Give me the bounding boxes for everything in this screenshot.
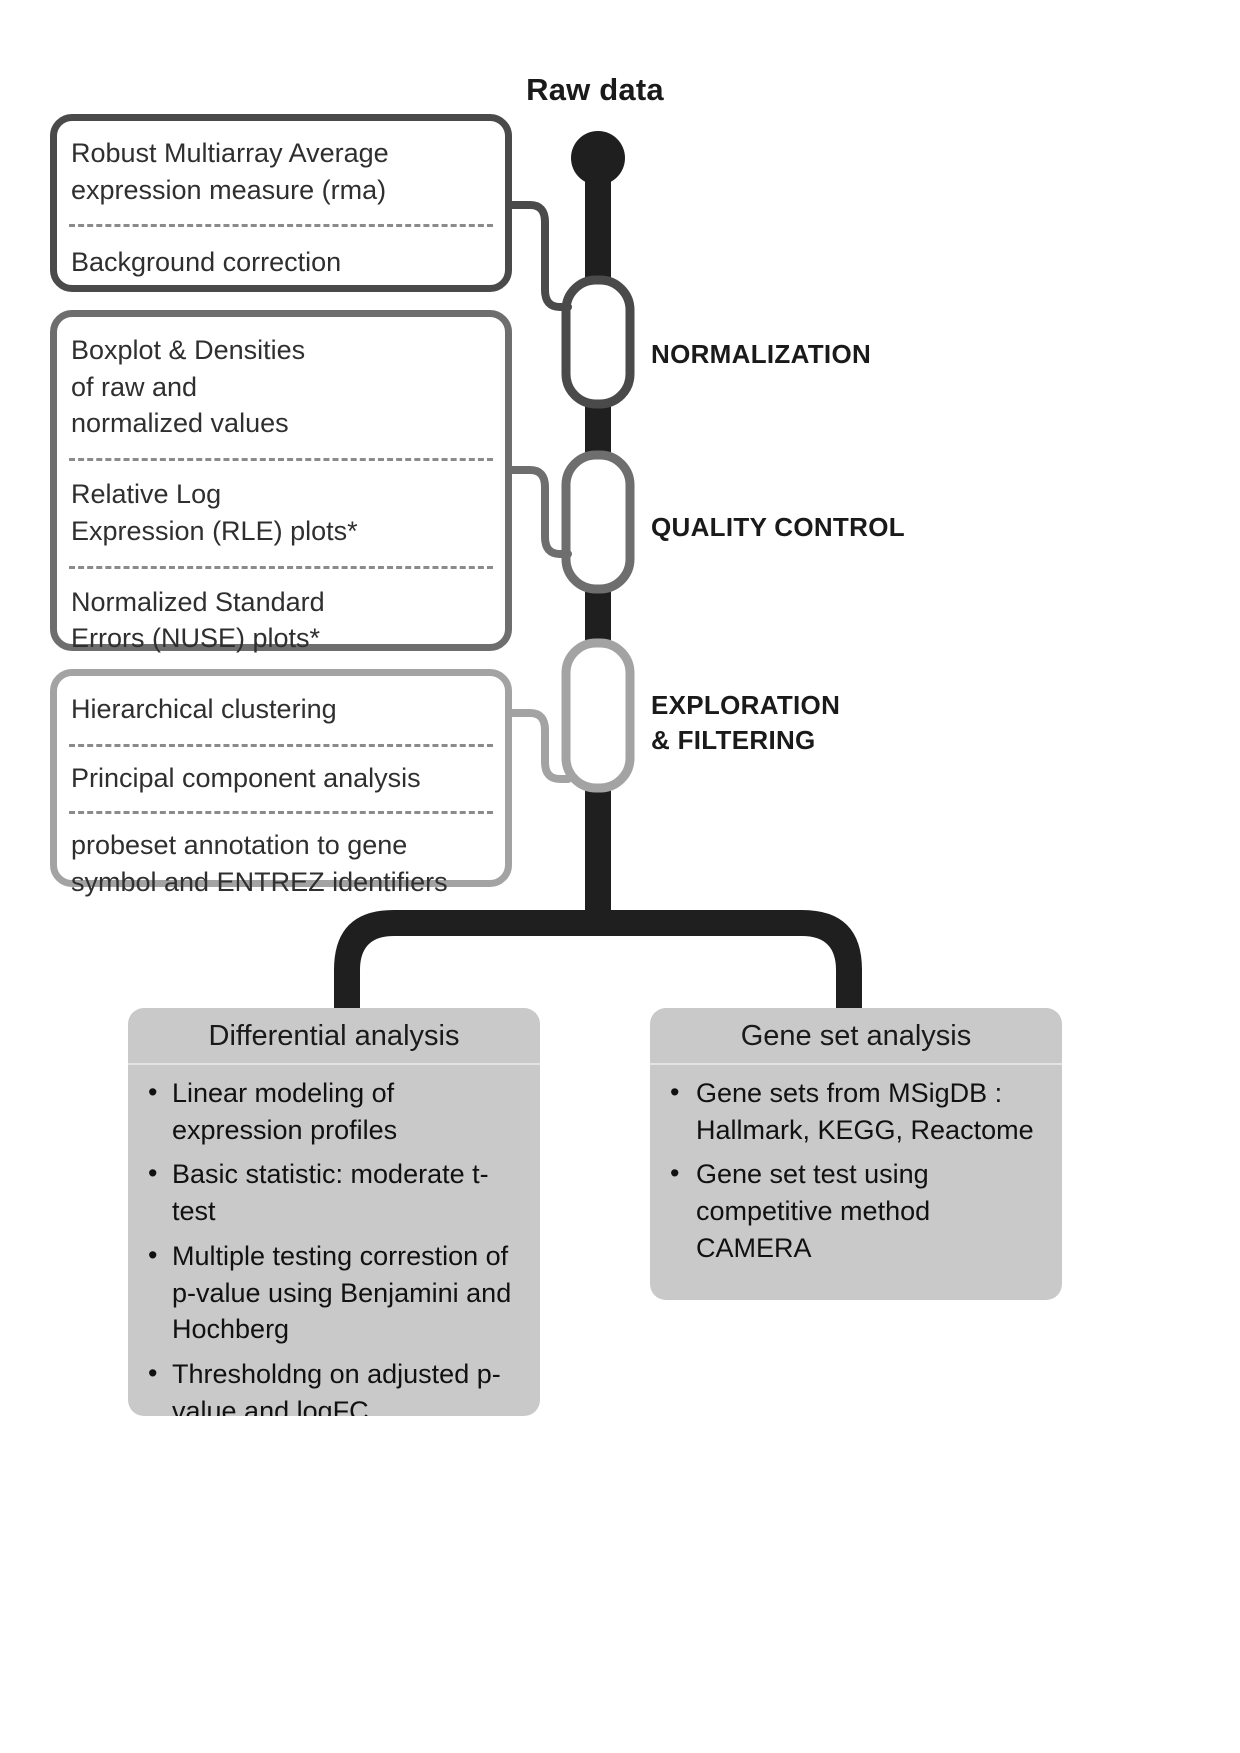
stage-step: probeset annotation to genesymbol and EN… bbox=[57, 814, 505, 900]
stage-step: Hierarchical clustering bbox=[57, 676, 505, 728]
stage-label-line: QUALITY CONTROL bbox=[651, 510, 905, 545]
stage-connectors bbox=[512, 205, 568, 779]
list-item: Thresholdng on adjusted p-value and logF… bbox=[144, 1356, 524, 1416]
stage-label-exploration-filtering: EXPLORATION & FILTERING bbox=[651, 688, 840, 758]
connector-quality-control bbox=[512, 470, 568, 554]
panel-differential-analysis: Differential analysis Linear modeling of… bbox=[128, 1008, 540, 1416]
list-item: Gene sets from MSigDB : Hallmark, KEGG, … bbox=[666, 1075, 1046, 1148]
list-item: Basic statistic: moderate t-test bbox=[144, 1156, 524, 1229]
panel-gene-set-analysis: Gene set analysis Gene sets from MSigDB … bbox=[650, 1008, 1062, 1300]
stage-capsules bbox=[566, 280, 630, 788]
spine-segment-1 bbox=[585, 158, 611, 293]
branch-bar bbox=[334, 910, 862, 986]
stage-step: Normalized StandardErrors (NUSE) plots* bbox=[57, 569, 505, 657]
capsule-normalization bbox=[566, 280, 630, 404]
stage-step: Robust Multiarray Averageexpression meas… bbox=[57, 121, 505, 208]
list-item: Gene set test using competitive method C… bbox=[666, 1156, 1046, 1266]
capsule-exploration bbox=[566, 643, 630, 788]
list-item: Multiple testing correstion of p-value u… bbox=[144, 1238, 524, 1348]
stage-step: Boxplot & Densitiesof raw andnormalized … bbox=[57, 317, 505, 442]
panel-bullet-list: Linear modeling of expression profiles B… bbox=[128, 1065, 540, 1416]
stage-step: Principal component analysis bbox=[57, 747, 505, 797]
capsule-quality-control bbox=[566, 455, 630, 589]
connector-normalization bbox=[512, 205, 568, 307]
list-item: Linear modeling of expression profiles bbox=[144, 1075, 524, 1148]
spine-segment-3 bbox=[585, 585, 611, 645]
stage-step: Background correction bbox=[57, 227, 505, 281]
stage-card-normalization: Robust Multiarray Averageexpression meas… bbox=[50, 114, 512, 292]
stage-label-normalization: NORMALIZATION bbox=[651, 337, 871, 372]
panel-title: Differential analysis bbox=[128, 1008, 540, 1065]
connector-exploration bbox=[512, 713, 568, 779]
stage-card-exploration-filtering: Hierarchical clustering Principal compon… bbox=[50, 669, 512, 887]
stage-card-quality-control: Boxplot & Densitiesof raw andnormalized … bbox=[50, 310, 512, 651]
page-title: Raw data bbox=[430, 72, 760, 108]
stage-label-line: EXPLORATION bbox=[651, 688, 840, 723]
panel-bullet-list: Gene sets from MSigDB : Hallmark, KEGG, … bbox=[650, 1065, 1062, 1285]
panel-title: Gene set analysis bbox=[650, 1008, 1062, 1065]
stage-label-line: & FILTERING bbox=[651, 723, 840, 758]
stage-label-quality-control: QUALITY CONTROL bbox=[651, 510, 905, 545]
stage-label-line: NORMALIZATION bbox=[651, 337, 871, 372]
spine-segment-4 bbox=[585, 784, 611, 910]
stage-step: Relative LogExpression (RLE) plots* bbox=[57, 461, 505, 549]
